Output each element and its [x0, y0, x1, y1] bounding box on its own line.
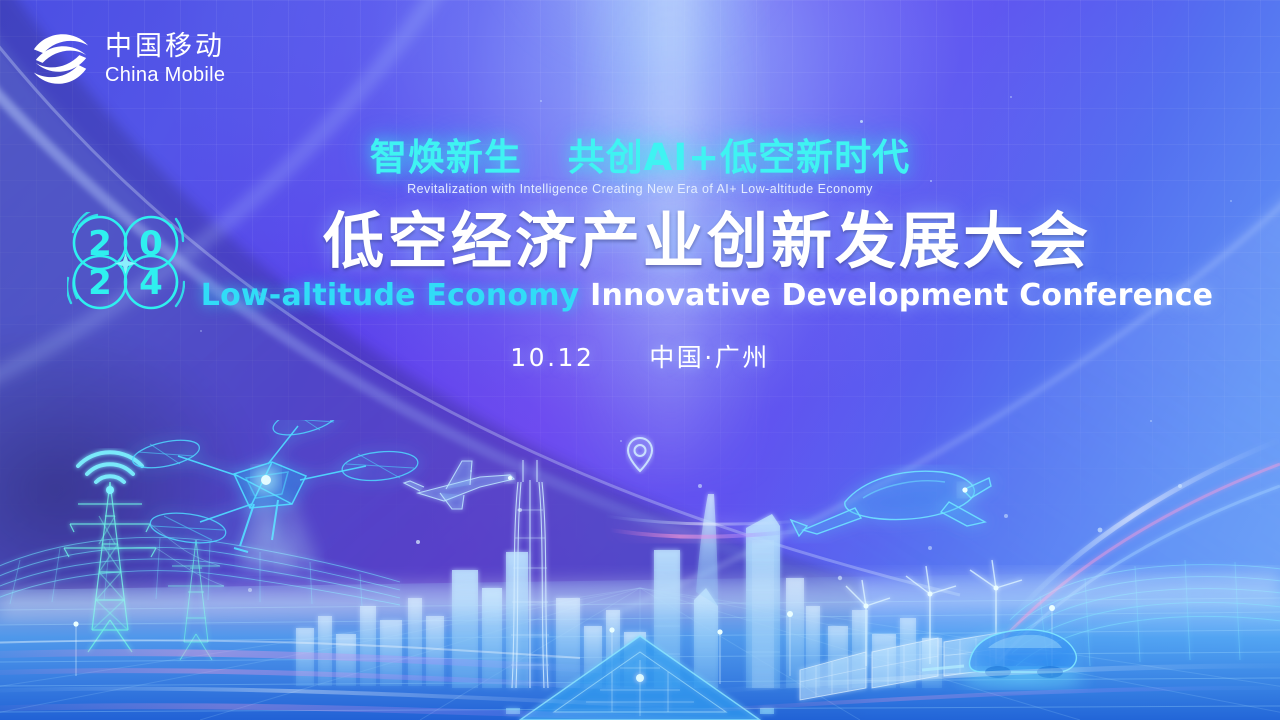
brand-logo: 中国移动 China Mobile	[30, 28, 225, 90]
main-title-en-highlight: Low-altitude Economy	[201, 278, 580, 313]
title-row: 2 0 2 4 低空经济产业创新发展大会 Low-altitude Econom…	[0, 210, 1280, 312]
main-title-en-rest: Innovative Development Conference	[590, 278, 1213, 313]
event-meta: 10.12 中国·广州	[0, 338, 1280, 374]
slogan-en: Revitalization with Intelligence Creatin…	[0, 182, 1280, 196]
main-title-en: Low-altitude Economy Innovative Developm…	[201, 281, 1213, 311]
event-date: 10.12	[510, 343, 594, 372]
airplane	[404, 461, 515, 509]
headline-block: 智焕新生 共创AI+低空新时代 Revitalization with Inte…	[0, 138, 1280, 374]
svg-text:4: 4	[139, 263, 163, 303]
slogan-cn-right: 共创AI+低空新时代	[568, 136, 910, 179]
slogan-cn-left: 智焕新生	[370, 136, 522, 179]
location-pin-icon	[628, 438, 652, 471]
drone-quadcopter	[130, 420, 419, 572]
brand-name-en: China Mobile	[105, 65, 225, 85]
evtol-flying-car	[605, 471, 991, 537]
brand-name-cn: 中国移动	[105, 33, 225, 60]
year-2024-mark-icon: 2 0 2 4	[67, 212, 185, 312]
svg-text:0: 0	[139, 224, 163, 264]
conference-poster: 中国移动 China Mobile 智焕新生 共创AI+低空新时代 Revita…	[0, 0, 1280, 720]
china-mobile-logo-icon	[30, 28, 92, 90]
main-title-cn: 低空经济产业创新发展大会	[201, 211, 1213, 272]
event-location: 中国·广州	[649, 343, 769, 372]
svg-text:2: 2	[88, 263, 112, 303]
tech-city-scene	[0, 420, 1280, 720]
slogan-cn: 智焕新生 共创AI+低空新时代	[0, 138, 1280, 177]
svg-text:2: 2	[88, 224, 112, 264]
